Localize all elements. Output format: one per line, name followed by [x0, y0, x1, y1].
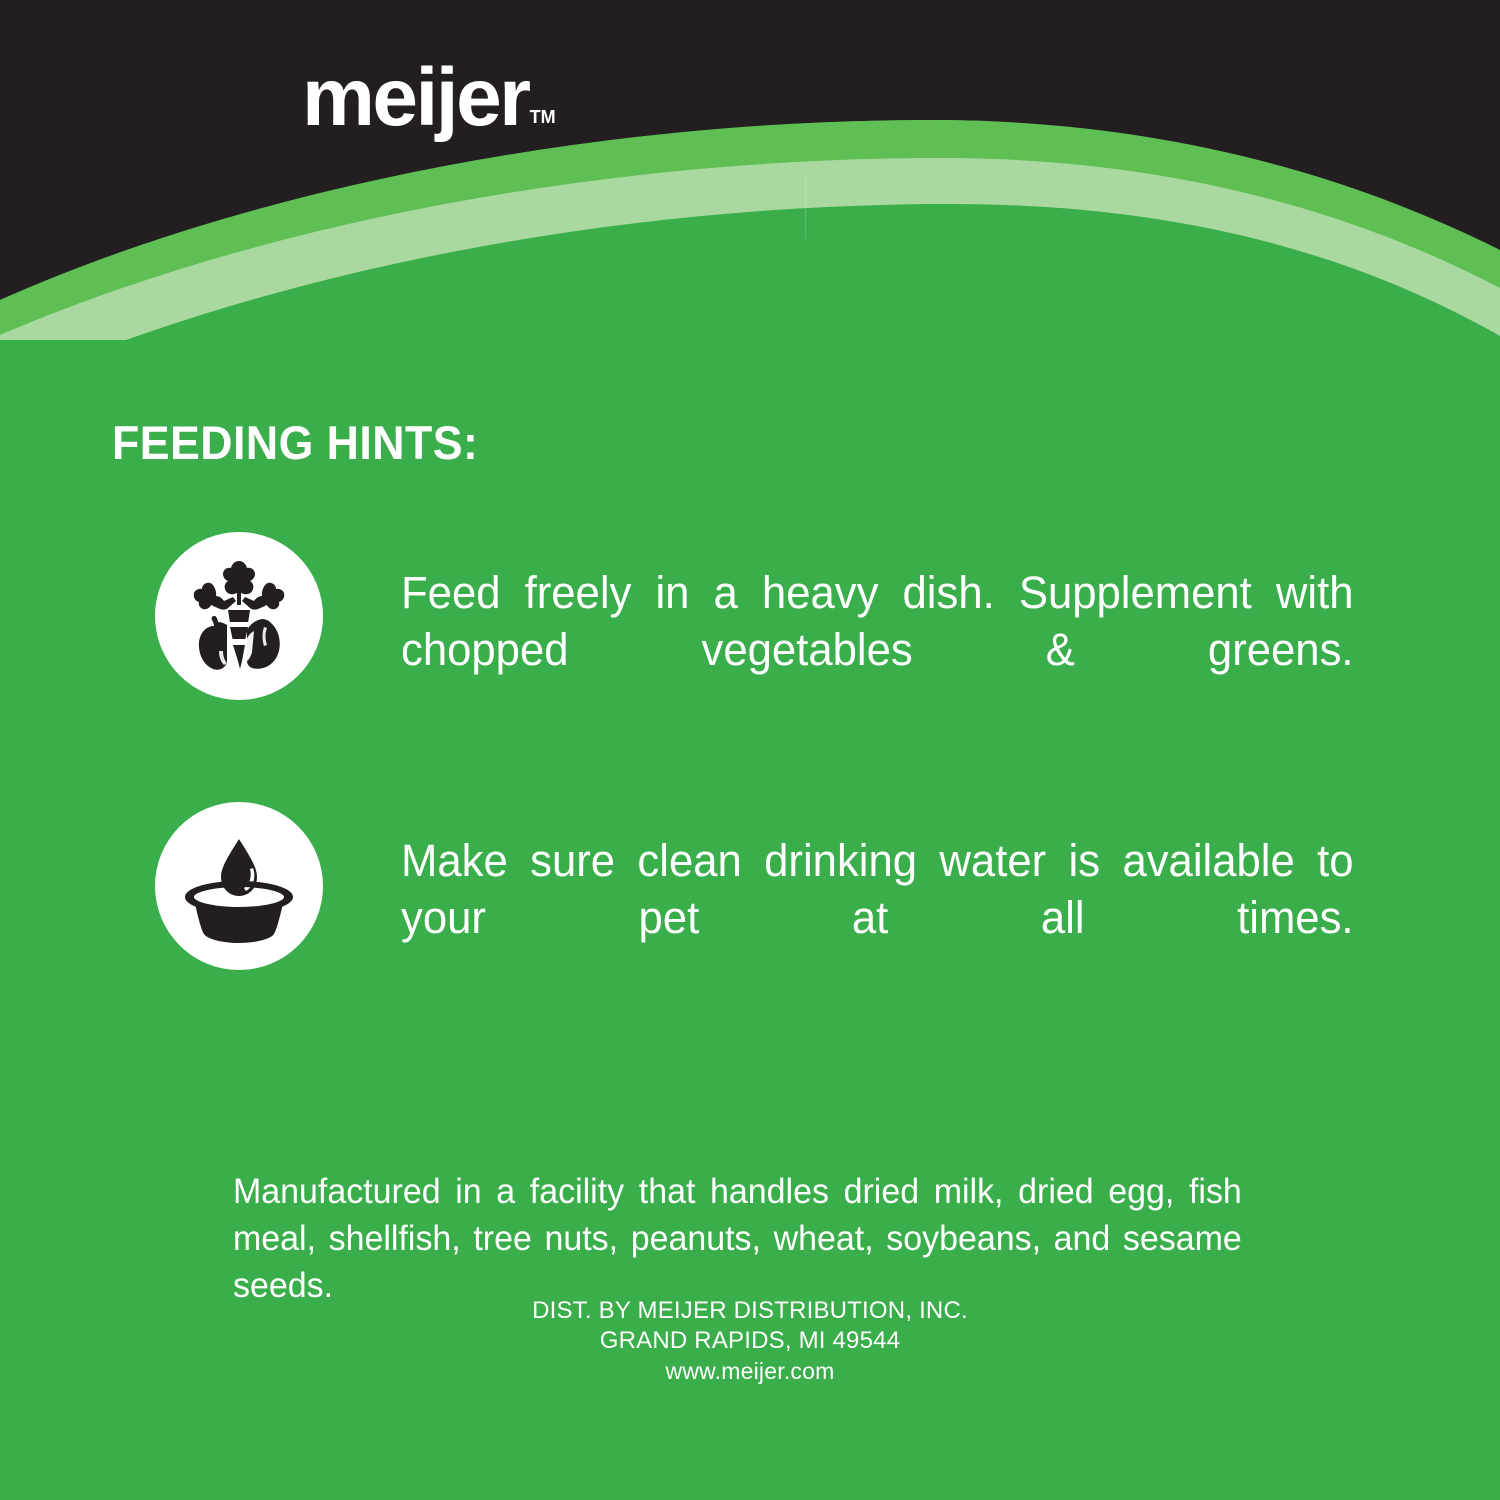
hint-text: Make sure clean drinking water is availa…	[401, 832, 1354, 1003]
logo-wordmark: meijer	[302, 52, 529, 143]
meijer-logo: meijerTM	[302, 57, 555, 160]
vegetables-icon-glyph	[176, 553, 302, 679]
water-bowl-icon	[155, 802, 323, 970]
package-back-panel: meijerTM FEEDING HINTS:	[0, 0, 1500, 1500]
water-bowl-icon-glyph	[176, 823, 302, 949]
hint-text: Feed freely in a heavy dish. Supplement …	[401, 564, 1354, 735]
website-line: www.meijer.com	[0, 1356, 1500, 1386]
header-wave-graphic	[0, 0, 1500, 340]
feeding-hints-title: FEEDING HINTS:	[112, 417, 478, 469]
footer-block: DIST. BY MEIJER DISTRIBUTION, INC. GRAND…	[0, 1296, 1500, 1386]
address-line: GRAND RAPIDS, MI 49544	[0, 1326, 1500, 1356]
distributor-line: DIST. BY MEIJER DISTRIBUTION, INC.	[0, 1296, 1500, 1326]
vegetables-icon	[155, 532, 323, 700]
trademark-symbol: TM	[530, 107, 556, 127]
scan-seam-artifact	[805, 176, 806, 238]
